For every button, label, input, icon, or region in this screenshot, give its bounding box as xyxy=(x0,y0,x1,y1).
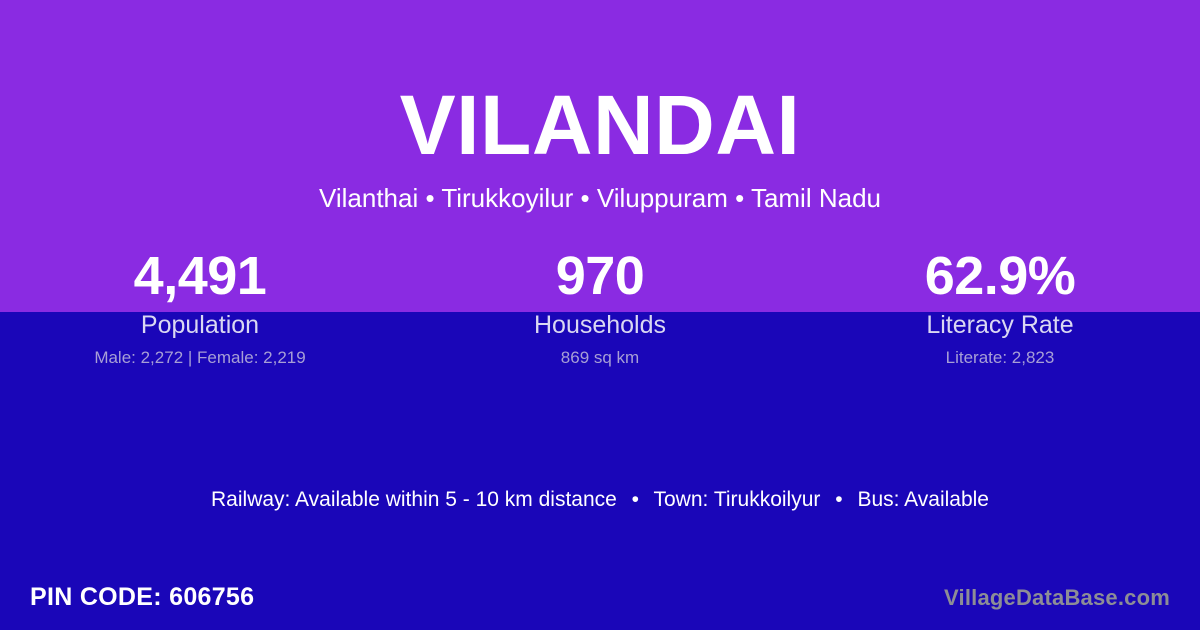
stat-subtext: 869 sq km xyxy=(400,348,800,368)
stat-label: Households xyxy=(400,311,800,339)
stat-label: Literacy Rate xyxy=(800,311,1200,339)
stat-literacy-rate: 62.9% Literacy Rate Literate: 2,823 xyxy=(800,245,1200,368)
breadcrumb: Vilanthai • Tirukkoyilur • Viluppuram • … xyxy=(0,183,1200,214)
stat-value: 4,491 xyxy=(0,245,400,307)
brand-watermark: VillageDataBase.com xyxy=(944,585,1170,611)
stat-value: 970 xyxy=(400,245,800,307)
facility-bus: Bus: Available xyxy=(857,488,989,511)
card-footer: PIN CODE: 606756 VillageDataBase.com xyxy=(0,575,1200,620)
stat-households: 970 Households 869 sq km xyxy=(400,245,800,368)
village-info-card: VILANDAI Vilanthai • Tirukkoyilur • Vilu… xyxy=(0,0,1200,630)
facilities-line: Railway: Available within 5 - 10 km dist… xyxy=(0,486,1200,514)
page-title: VILANDAI xyxy=(0,83,1200,167)
stats-row: 4,491 Population Male: 2,272 | Female: 2… xyxy=(0,245,1200,368)
bullet-separator-icon: • xyxy=(826,486,851,514)
pin-code: PIN CODE: 606756 xyxy=(30,583,254,612)
stat-value: 62.9% xyxy=(800,245,1200,307)
stat-subtext: Male: 2,272 | Female: 2,219 xyxy=(0,348,400,368)
stat-population: 4,491 Population Male: 2,272 | Female: 2… xyxy=(0,245,400,368)
stat-subtext: Literate: 2,823 xyxy=(800,348,1200,368)
stat-label: Population xyxy=(0,311,400,339)
facility-town: Town: Tirukkoilyur xyxy=(654,488,821,511)
facility-railway: Railway: Available within 5 - 10 km dist… xyxy=(211,488,617,511)
bullet-separator-icon: • xyxy=(623,486,648,514)
